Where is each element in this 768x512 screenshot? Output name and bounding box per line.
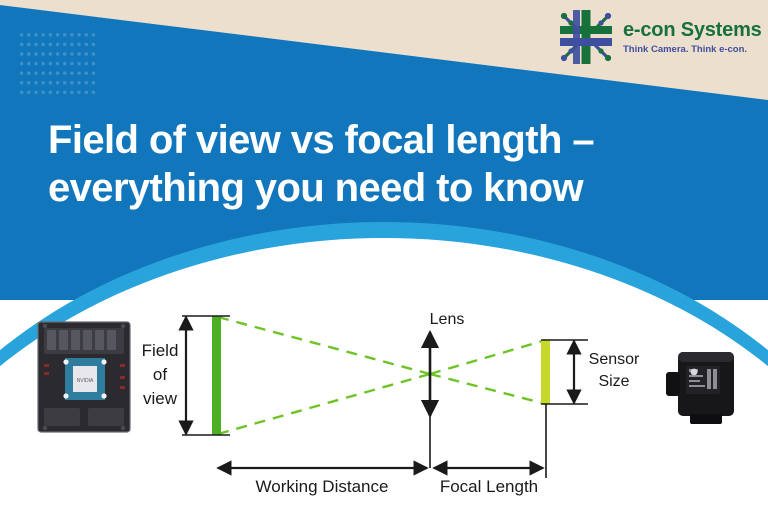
brand-logo-text: e-con Systems Think Camera. Think e-con. xyxy=(623,20,762,55)
focal-length-label: Focal Length xyxy=(440,477,538,496)
lens-label: Lens xyxy=(430,311,465,328)
sensor-plane-bar xyxy=(541,340,550,404)
page-title: Field of view vs focal length – everythi… xyxy=(48,116,728,212)
page-title-line-2: everything you need to know xyxy=(48,164,728,212)
field-of-view-label-line-2: of xyxy=(153,365,167,384)
econ-cross-logo-icon xyxy=(555,8,617,66)
working-distance-label: Working Distance xyxy=(256,477,389,496)
page-title-line-1: Field of view vs focal length – xyxy=(48,116,728,164)
brand-name: e-con Systems xyxy=(623,20,762,40)
sensor-size-label-line-1: Sensor xyxy=(589,351,640,368)
dot-grid-decoration xyxy=(18,30,96,94)
brand-tagline: Think Camera. Think e-con. xyxy=(623,45,762,55)
field-of-view-label-line-3: view xyxy=(143,389,178,408)
sensor-size-label-line-2: Size xyxy=(598,373,629,390)
svg-text:NVIDIA: NVIDIA xyxy=(77,378,94,384)
field-of-view-label-line-1: Field xyxy=(142,341,179,360)
brand-logo[interactable]: e-con Systems Think Camera. Think e-con. xyxy=(555,8,765,66)
nvidia-carrier-board-image: NVIDIA xyxy=(36,320,132,434)
promo-banner: e-con Systems Think Camera. Think e-con.… xyxy=(0,0,768,512)
object-plane-bar xyxy=(212,316,221,435)
industrial-box-camera-image xyxy=(664,342,746,428)
